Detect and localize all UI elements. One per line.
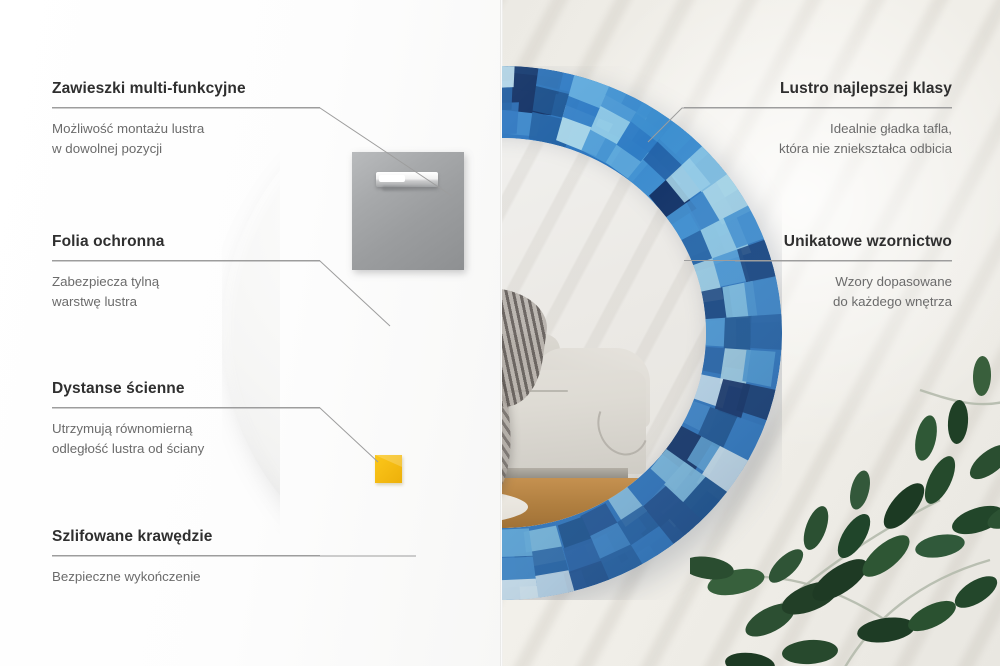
plant-leaf [946,399,969,444]
plant-leaf [846,468,873,511]
plant-leaf [856,614,917,646]
plant-leaf [724,650,776,666]
plant-leaf [831,509,876,563]
callout-unique-design-rule [684,260,952,261]
callout-hangers-description: Możliwość montażu lustra w dowolnej pozy… [52,119,320,159]
callout-unique-design: Unikatowe wzornictwo Wzory dopasowane do… [684,233,952,312]
plant-leaf [877,477,931,535]
callout-hangers: Zawieszki multi-funkcyjne Możliwość mont… [52,80,320,159]
plant-leaf [972,356,991,397]
hanger-bracket-shadow [382,186,444,191]
callout-wall-spacers-rule [52,407,320,408]
plant-leaf [799,503,834,553]
callout-hangers-title: Zawieszki multi-funkcyjne [52,80,320,98]
callout-unique-design-title: Unikatowe wzornictwo [684,233,952,251]
plant-leaf [913,531,966,561]
callout-protective-film-description: Zabezpiecza tylną warstwę lustra [52,272,320,312]
hanger-bracket-icon [376,172,438,187]
callout-wall-spacers: Dystanse ścienne Utrzymują równomierną o… [52,380,320,459]
callout-polished-edges: Szlifowane krawędzie Bezpieczne wykończe… [52,528,320,587]
callout-protective-film-title: Folia ochronna [52,233,320,251]
infographic-canvas: Zawieszki multi-funkcyjne Możliwość mont… [0,0,1000,666]
callout-polished-edges-description: Bezpieczne wykończenie [52,567,320,587]
plant-leaf [919,452,962,508]
callout-top-class-mirror-description: Idealnie gładka tafla, która nie znieksz… [684,119,952,159]
plant-leaf [964,439,1000,486]
metal-hanger-plate [352,152,464,270]
callout-top-class-mirror: Lustro najlepszej klasy Idealnie gładka … [684,80,952,159]
callout-wall-spacers-description: Utrzymują równomierną odległość lustra o… [52,419,320,459]
callout-top-class-mirror-rule [684,107,952,108]
wall-spacer-square [375,455,402,483]
callout-wall-spacers-title: Dystanse ścienne [52,380,320,398]
callout-protective-film-rule [52,260,320,261]
callout-unique-design-description: Wzory dopasowane do każdego wnętrza [684,272,952,312]
callout-polished-edges-title: Szlifowane krawędzie [52,528,320,546]
plant-leaf [781,638,839,666]
callout-top-class-mirror-title: Lustro najlepszej klasy [684,80,952,98]
plant-leaf [911,413,940,462]
foliage-group [690,330,1000,666]
callout-polished-edges-rule [52,555,320,556]
plant-leaf [950,570,1000,614]
callout-hangers-rule [52,107,320,108]
callout-protective-film: Folia ochronna Zabezpiecza tylną warstwę… [52,233,320,312]
plant-foliage [690,330,1000,666]
